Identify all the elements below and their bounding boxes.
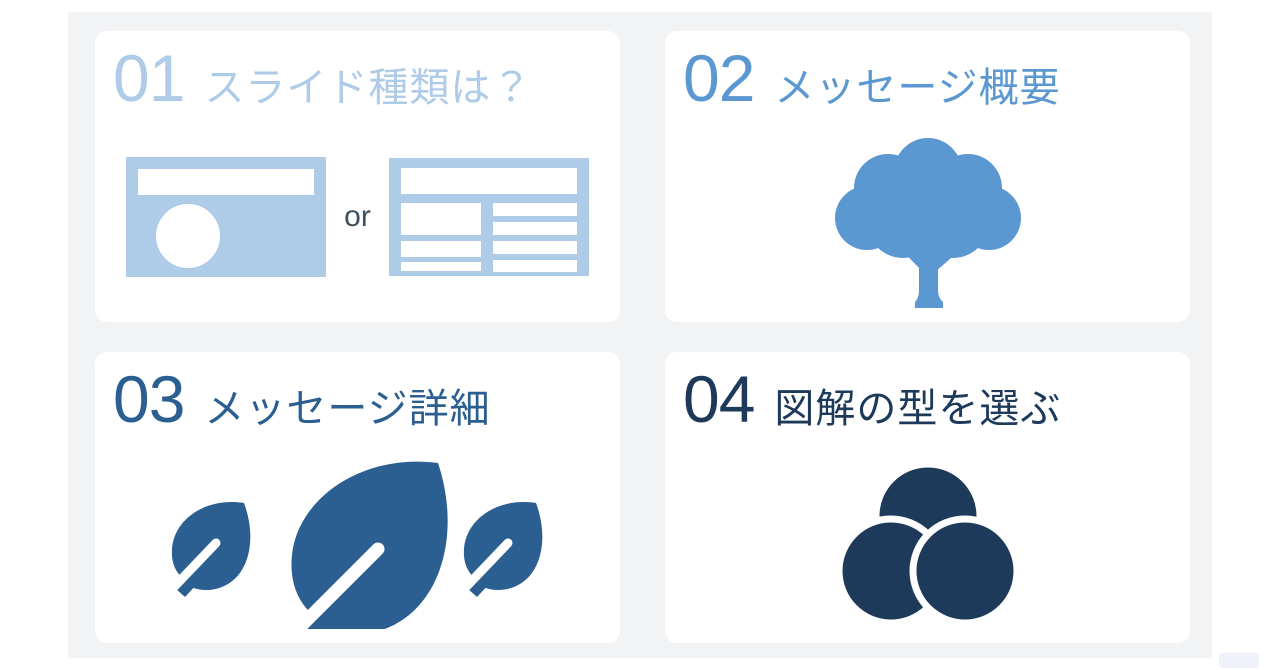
leaf-icon-small-left: [171, 502, 249, 597]
tree-icon: [833, 130, 1023, 315]
card-header: 02 メッセージ概要: [665, 31, 1190, 111]
table-layout-icon: [389, 158, 589, 276]
step-number: 03: [113, 366, 184, 432]
card-header: 04 図解の型を選ぶ: [665, 352, 1190, 432]
leaf-icon-small-right: [463, 502, 541, 597]
card-illustration: or: [95, 123, 620, 322]
card-header: 01 スライド種類は？: [95, 31, 620, 111]
slide-canvas: 01 スライド種類は？ or: [0, 0, 1280, 670]
corner-chip: [1219, 653, 1259, 668]
step-card-grid: 01 スライド種類は？ or: [95, 31, 1190, 643]
card-illustration: [665, 444, 1190, 643]
venn-diagram-icon: [838, 456, 1018, 631]
leaves-illustration: [158, 459, 558, 629]
slide-layout-icon: [126, 157, 326, 277]
step-card-03[interactable]: 03 メッセージ詳細: [95, 352, 620, 643]
card-illustration: [665, 123, 1190, 322]
step-title: スライド種類は？: [204, 68, 532, 108]
step-card-02[interactable]: 02 メッセージ概要: [665, 31, 1190, 322]
step-card-04[interactable]: 04 図解の型を選ぶ: [665, 352, 1190, 643]
step-title: メッセージ概要: [774, 68, 1060, 108]
step-card-01[interactable]: 01 スライド種類は？ or: [95, 31, 620, 322]
step-number: 02: [683, 45, 754, 111]
step-title: 図解の型を選ぶ: [774, 389, 1061, 429]
step-number: 01: [113, 45, 184, 111]
step-title: メッセージ詳細: [204, 389, 490, 429]
card-header: 03 メッセージ詳細: [95, 352, 620, 432]
leaf-icon-large-center: [291, 461, 447, 628]
or-separator-label: or: [344, 200, 371, 234]
card-illustration: [95, 444, 620, 643]
step-number: 04: [683, 366, 754, 432]
